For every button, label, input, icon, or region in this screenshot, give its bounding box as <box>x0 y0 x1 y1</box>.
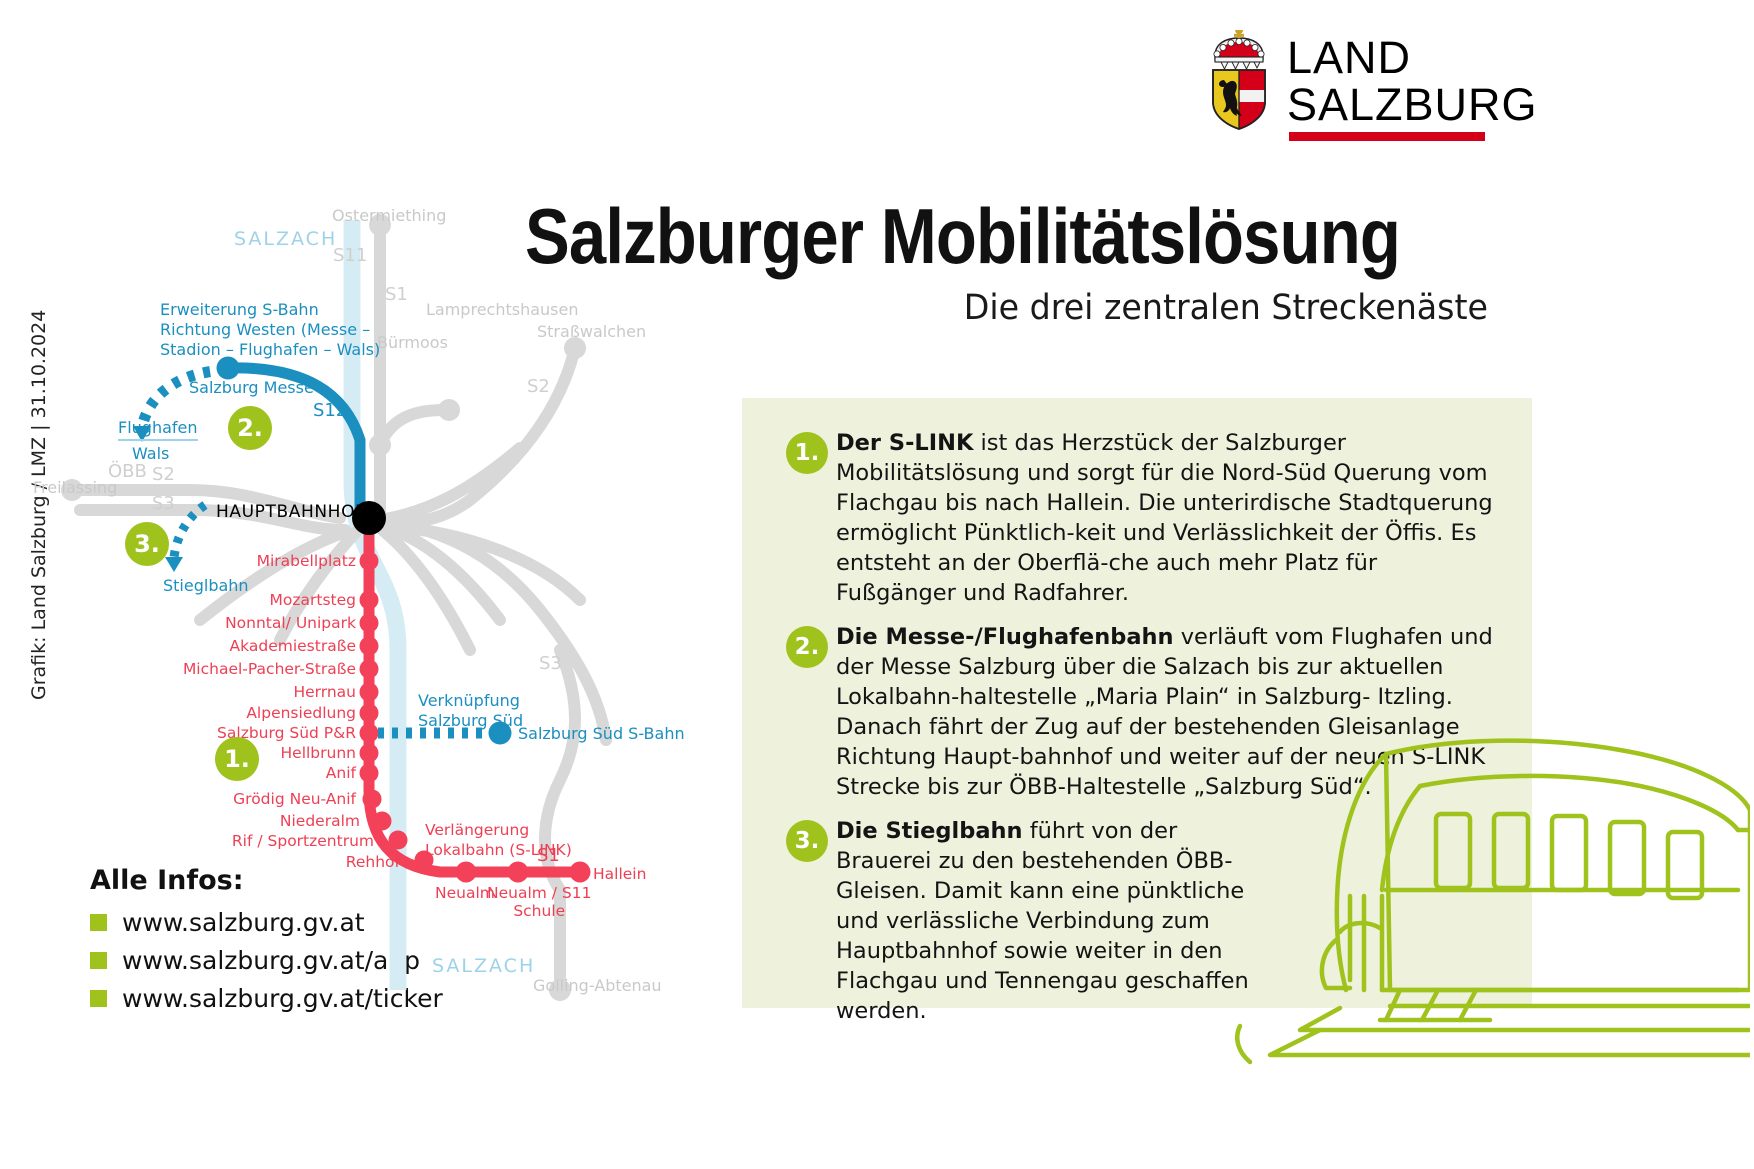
erweiterung-line-3: Stadion – Flughafen – Wals) <box>160 340 380 360</box>
map-label-alpensiedlung: Alpensiedlung <box>56 704 356 722</box>
map-label-akademiestrasse: Akademiestraße <box>56 637 356 655</box>
salzburg-coat-of-arms-icon <box>1205 30 1273 130</box>
map-line-label-s3-west: S3 <box>152 493 175 514</box>
paragraph-1-badge: 1. <box>786 432 828 474</box>
map-line-label-s3-east: S3 <box>539 653 562 674</box>
map-line-label-s1-south: S1 <box>537 845 560 866</box>
network-map: SALZACH SALZACH Ostermiething Lamprechts… <box>0 180 720 1030</box>
map-label-salzach-south: SALZACH <box>432 955 535 977</box>
map-label-rif-sportzentrum: Rif / Sportzentrum <box>56 832 374 850</box>
paragraph-1-body: ist das Herzstück der Salzburger Mobilit… <box>836 430 1493 606</box>
verknuepfung-line-1: Verknüpfung <box>418 691 523 711</box>
map-label-buermoos: Bürmoos <box>377 333 448 352</box>
map-label-rehhof: Rehhof <box>56 853 400 871</box>
map-line-label-s2-west: S2 <box>152 464 175 485</box>
map-label-herrnau: Herrnau <box>56 683 356 701</box>
map-label-ostermiething: Ostermiething <box>332 206 446 225</box>
map-label-nonntal-unipark: Nonntal/ Unipark <box>56 614 356 632</box>
map-line-label-s2-north: S2 <box>527 376 550 397</box>
verknuepfung-line-2: Salzburg Süd <box>418 711 523 731</box>
logo-red-rule <box>1289 132 1485 141</box>
neualm-schule-line-1: Neualm / S11 <box>487 884 592 902</box>
paragraph-1-text: Der S-LINK ist das Herzstück der Salzbur… <box>836 428 1504 608</box>
map-note-verknuepfung: Verknüpfung Salzburg Süd <box>418 691 523 731</box>
paragraph-3-lead: Die Stieglbahn <box>836 818 1023 844</box>
map-label-michael-pacher-strasse: Michael-Pacher-Straße <box>56 660 356 678</box>
map-label-groedig-neu-anif: Grödig Neu-Anif <box>56 790 356 808</box>
map-label-neualm: Neualm <box>435 884 495 902</box>
map-label-mirabellplatz: Mirabellplatz <box>56 552 356 570</box>
logo-line-1: LAND <box>1287 34 1538 81</box>
map-label-golling-abtenau: Golling-Abtenau <box>533 976 662 995</box>
paragraph-2-badge: 2. <box>786 626 828 668</box>
map-line-label-s11-north: S11 <box>333 245 367 266</box>
logo-line-2: SALZBURG <box>1287 81 1538 128</box>
map-badge-slink: 1. <box>215 737 259 781</box>
map-label-salzburg-sued-sbahn: Salzburg Süd S-Bahn <box>518 724 685 743</box>
map-label-hauptbahnhof: HAUPTBAHNHOF <box>216 502 365 522</box>
map-label-mozartsteg: Mozartsteg <box>56 591 356 609</box>
map-badge-stieglbahn: 3. <box>125 522 169 566</box>
map-label-salzach-north: SALZACH <box>234 228 337 250</box>
paragraph-3-body: führt von der Brauerei zu den bestehende… <box>836 818 1249 1024</box>
infographic-root: LAND SALZBURG Salzburger Mobilitätslösun… <box>0 0 1754 1169</box>
map-label-hallein: Hallein <box>593 865 646 883</box>
paragraph-2-lead: Die Messe-/Flughafenbahn <box>836 624 1174 650</box>
map-badge-messebahn: 2. <box>228 406 272 450</box>
map-line-label-oebb: ÖBB <box>108 461 147 482</box>
map-note-erweiterung-sbahn: Erweiterung S-Bahn Richtung Westen (Mess… <box>160 300 380 360</box>
map-label-freilassing: Freilassing <box>33 478 117 497</box>
map-label-strasswalchen: Straßwalchen <box>537 322 646 341</box>
paragraph-1-lead: Der S-LINK <box>836 430 973 456</box>
map-label-anif: Anif <box>56 764 356 782</box>
map-line-label-s1-north: S1 <box>385 284 408 305</box>
map-label-hellbrunn: Hellbrunn <box>56 744 356 762</box>
map-label-salzburg-messe: Salzburg Messe <box>189 378 314 397</box>
land-salzburg-logo: LAND SALZBURG <box>1205 22 1525 142</box>
erweiterung-line-1: Erweiterung S-Bahn <box>160 300 380 320</box>
map-label-salzburg-sued-pr: Salzburg Süd P&R <box>56 724 356 742</box>
verlaengerung-line-1: Verlängerung <box>425 820 572 840</box>
map-label-wals: Wals <box>132 444 169 463</box>
map-line-label-s12: S12 <box>313 400 347 421</box>
map-label-lamprechtshausen: Lamprechtshausen <box>426 300 578 319</box>
paragraph-1: 1. Der S-LINK ist das Herzstück der Salz… <box>774 428 1504 608</box>
train-outline-illustration-icon <box>1190 690 1750 1080</box>
erweiterung-line-2: Richtung Westen (Messe – <box>160 320 380 340</box>
map-label-neualm-schule: Neualm / S11 Schule <box>487 884 592 920</box>
map-label-niederalm: Niederalm <box>56 812 360 830</box>
neualm-schule-line-2: Schule <box>487 902 592 920</box>
map-label-flughafen: Flughafen <box>118 418 198 441</box>
paragraph-3-badge: 3. <box>786 820 828 862</box>
